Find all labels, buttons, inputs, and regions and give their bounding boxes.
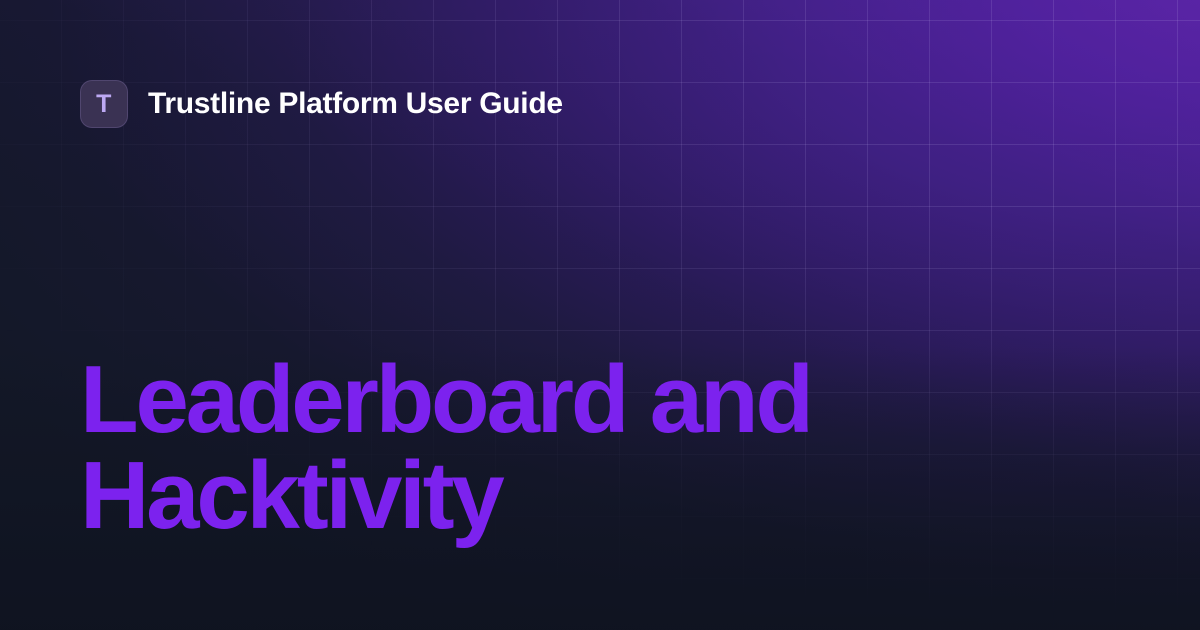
brand-logo-letter: T	[96, 92, 112, 117]
brand-logo-icon: T	[80, 80, 128, 128]
page-title: Leaderboard and Hacktivity	[80, 352, 811, 544]
og-banner-card: T Trustline Platform User Guide Leaderbo…	[0, 0, 1200, 630]
brand-title: Trustline Platform User Guide	[148, 89, 563, 119]
brand-header: T Trustline Platform User Guide	[80, 80, 563, 128]
page-title-line-2: Hacktivity	[80, 448, 811, 544]
page-title-line-1: Leaderboard and	[80, 352, 811, 448]
card-content: T Trustline Platform User Guide Leaderbo…	[0, 0, 1200, 630]
